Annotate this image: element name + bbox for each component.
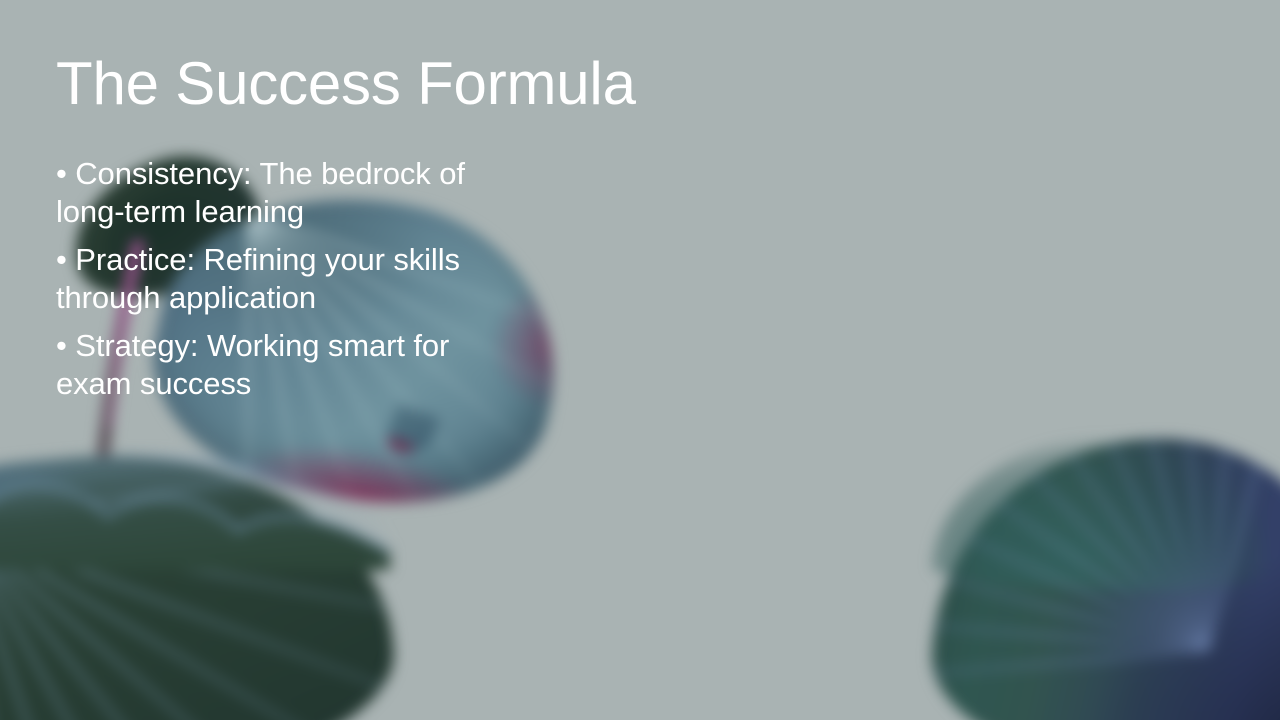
list-item: • Practice: Refining your skills through… xyxy=(56,241,656,317)
leaf-icon-bottom-right xyxy=(935,438,1280,720)
presentation-slide: The Success Formula • Consistency: The b… xyxy=(0,0,1280,720)
leaf-shadow xyxy=(1084,557,1280,720)
page-title: The Success Formula xyxy=(56,52,636,117)
list-item: • Strategy: Working smart for exam succe… xyxy=(56,327,656,403)
list-item: • Consistency: The bedrock of long-term … xyxy=(56,155,656,231)
leaf-icon-bottom-left xyxy=(0,460,390,720)
bullet-list: • Consistency: The bedrock of long-term … xyxy=(56,155,656,403)
